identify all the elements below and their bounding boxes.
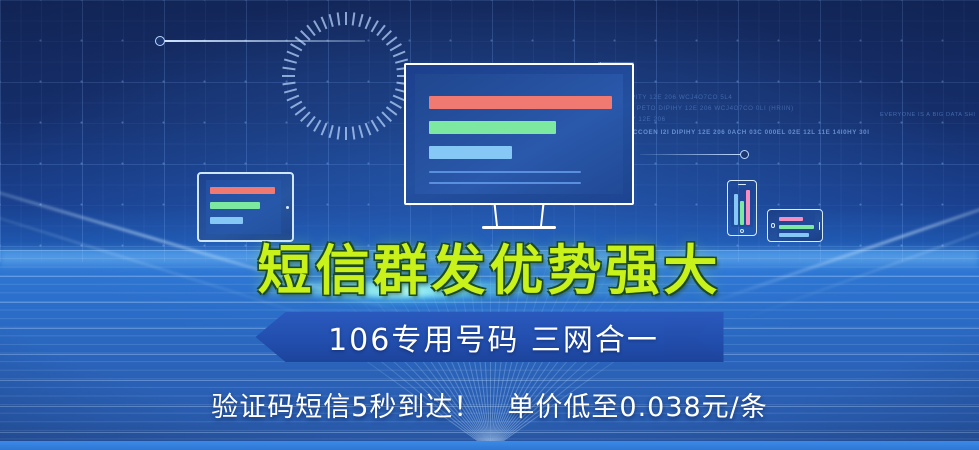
content-bar (779, 233, 809, 237)
decor-text-line-4: I 0NCHUCCOEN I2I DIPIHY 12E 206 0ACH 03C… (604, 127, 870, 138)
tablet-home-button-icon (286, 206, 289, 209)
subtitle-price: 单价低至0.038元/条 (507, 392, 767, 423)
subtitle-row: 验证码短信5秒到达！单价低至0.038元/条 (0, 385, 979, 424)
monitor-base (482, 226, 556, 229)
content-bar (210, 217, 243, 224)
monitor-frame (404, 63, 634, 205)
content-bar (429, 146, 512, 159)
promo-banner: I AM CAPITY 12E 206 WCJ4O7CO 5L4 I ANGLI… (0, 0, 979, 450)
content-bar (429, 171, 581, 173)
content-bar-vertical (746, 190, 750, 224)
content-bar (210, 202, 260, 209)
node-wire-line (165, 40, 365, 41)
content-bar (429, 182, 581, 184)
content-bar-vertical (734, 194, 738, 224)
phone-home-button-icon-2 (771, 223, 776, 228)
phone-landscape-screen (777, 213, 815, 238)
decor-text-line-5: EVERYONE IS A BIG DATA SHI (880, 110, 976, 121)
phone-landscape-frame (767, 209, 823, 242)
phone-speaker-icon (738, 184, 746, 185)
phone-home-button-icon (740, 229, 744, 233)
content-bar (779, 225, 814, 229)
ribbon-label: 106专用号码 三网合一 (256, 312, 724, 362)
node-connector-left (155, 36, 365, 46)
tablet-frame (197, 172, 294, 242)
desktop-monitor (404, 63, 634, 228)
content-bar (429, 121, 556, 134)
page-title: 短信群发优势强大 (0, 244, 979, 298)
content-bar-vertical (740, 201, 744, 225)
node-connector-right (640, 150, 760, 160)
monitor-neck (494, 205, 545, 228)
phone-landscape (767, 209, 823, 242)
content-bar (779, 217, 803, 221)
phone-speaker-icon-2 (819, 222, 820, 230)
phone-portrait-screen (731, 188, 753, 227)
node-circle-icon-2 (740, 150, 749, 159)
radial-dial-icon (282, 12, 410, 140)
bottom-accent-band (0, 441, 979, 450)
node-circle-icon (155, 36, 165, 46)
phone-portrait (727, 180, 757, 236)
subtitle-delivery: 验证码短信5秒到达！ (211, 392, 481, 423)
feature-ribbon: 106专用号码 三网合一 (256, 312, 724, 362)
node-wire-line-2 (640, 154, 740, 155)
phone-portrait-frame (727, 180, 757, 236)
content-bar (210, 187, 275, 194)
monitor-screen (415, 74, 623, 194)
content-bar (429, 96, 612, 109)
tablet-screen (206, 180, 281, 234)
tablet-device (197, 172, 294, 242)
